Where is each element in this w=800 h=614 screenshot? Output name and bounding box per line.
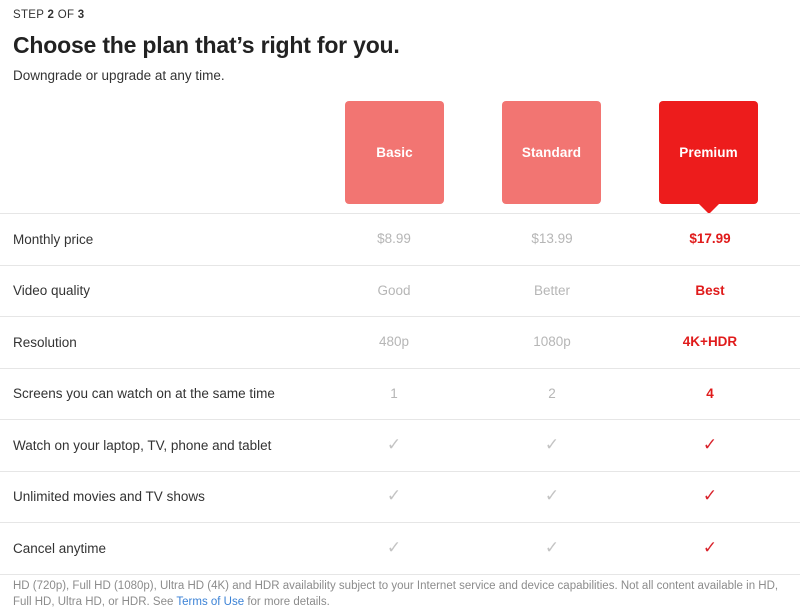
row-label-watch-devices: Watch on your laptop, TV, phone and tabl… bbox=[13, 438, 271, 453]
check-icon: ✓ bbox=[703, 540, 717, 556]
row-label-resolution: Resolution bbox=[13, 335, 77, 350]
cell-video-quality-basic: Good bbox=[334, 283, 454, 299]
plan-card-basic-label: Basic bbox=[376, 145, 413, 160]
table-row: Unlimited movies and TV shows ✓ ✓ ✓ bbox=[0, 472, 800, 524]
table-row: Monthly price $8.99 $13.99 $17.99 bbox=[0, 213, 800, 266]
cell-screens-basic: 1 bbox=[334, 386, 454, 402]
footnote-text-before: HD (720p), Full HD (1080p), Ultra HD (4K… bbox=[13, 580, 778, 608]
check-icon: ✓ bbox=[545, 488, 559, 504]
cell-video-quality-premium: Best bbox=[650, 283, 770, 299]
check-icon: ✓ bbox=[387, 488, 401, 504]
plan-card-row: Basic Standard Premium bbox=[0, 101, 800, 216]
row-label-screens: Screens you can watch on at the same tim… bbox=[13, 386, 275, 401]
table-row: Cancel anytime ✓ ✓ ✓ bbox=[0, 523, 800, 575]
plan-card-standard[interactable]: Standard bbox=[502, 101, 601, 204]
check-icon: ✓ bbox=[545, 437, 559, 453]
plan-card-basic[interactable]: Basic bbox=[345, 101, 444, 204]
page-title: Choose the plan that’s right for you. bbox=[13, 31, 787, 59]
cell-resolution-premium: 4K+HDR bbox=[650, 334, 770, 350]
cell-video-quality-standard: Better bbox=[492, 283, 612, 299]
check-icon: ✓ bbox=[387, 540, 401, 556]
cell-unlimited-content-basic: ✓ bbox=[334, 488, 454, 505]
table-row: Watch on your laptop, TV, phone and tabl… bbox=[0, 420, 800, 472]
footnote-text-after: for more details. bbox=[244, 596, 330, 608]
page-header: STEP 2 OF 3 Choose the plan that’s right… bbox=[0, 0, 800, 85]
plan-card-standard-label: Standard bbox=[522, 145, 581, 160]
cell-monthly-price-basic: $8.99 bbox=[334, 231, 454, 247]
row-label-video-quality: Video quality bbox=[13, 283, 90, 298]
cell-watch-devices-premium: ✓ bbox=[650, 437, 770, 454]
cell-unlimited-content-premium: ✓ bbox=[650, 488, 770, 505]
row-label-unlimited-content: Unlimited movies and TV shows bbox=[13, 489, 205, 504]
plan-card-premium[interactable]: Premium bbox=[659, 101, 758, 204]
cell-screens-premium: 4 bbox=[650, 386, 770, 402]
check-icon: ✓ bbox=[703, 437, 717, 453]
cell-screens-standard: 2 bbox=[492, 386, 612, 402]
cell-cancel-anytime-standard: ✓ bbox=[492, 540, 612, 557]
row-label-cancel-anytime: Cancel anytime bbox=[13, 541, 106, 556]
plan-comparison-table: Monthly price $8.99 $13.99 $17.99 Video … bbox=[0, 213, 800, 575]
table-row: Screens you can watch on at the same tim… bbox=[0, 369, 800, 421]
check-icon: ✓ bbox=[387, 437, 401, 453]
page-subtitle: Downgrade or upgrade at any time. bbox=[13, 67, 787, 85]
row-label-monthly-price: Monthly price bbox=[13, 232, 93, 247]
cell-monthly-price-premium: $17.99 bbox=[650, 231, 770, 247]
step-middle-label: OF bbox=[54, 9, 78, 21]
check-icon: ✓ bbox=[703, 488, 717, 504]
cell-resolution-basic: 480p bbox=[334, 334, 454, 350]
table-row: Resolution 480p 1080p 4K+HDR bbox=[0, 317, 800, 369]
cell-watch-devices-standard: ✓ bbox=[492, 437, 612, 454]
legal-footnote: HD (720p), Full HD (1080p), Ultra HD (4K… bbox=[13, 578, 785, 610]
step-total-number: 3 bbox=[78, 9, 85, 21]
cell-resolution-standard: 1080p bbox=[492, 334, 612, 350]
cell-cancel-anytime-basic: ✓ bbox=[334, 540, 454, 557]
plan-selection-page: STEP 2 OF 3 Choose the plan that’s right… bbox=[0, 0, 800, 614]
step-prefix-label: STEP bbox=[13, 9, 48, 21]
check-icon: ✓ bbox=[545, 540, 559, 556]
plan-card-premium-label: Premium bbox=[679, 145, 737, 160]
cell-watch-devices-basic: ✓ bbox=[334, 437, 454, 454]
table-row: Video quality Good Better Best bbox=[0, 266, 800, 318]
terms-of-use-link[interactable]: Terms of Use bbox=[176, 596, 244, 608]
cell-monthly-price-standard: $13.99 bbox=[492, 231, 612, 247]
cell-unlimited-content-standard: ✓ bbox=[492, 488, 612, 505]
cell-cancel-anytime-premium: ✓ bbox=[650, 540, 770, 557]
step-indicator: STEP 2 OF 3 bbox=[13, 8, 787, 22]
